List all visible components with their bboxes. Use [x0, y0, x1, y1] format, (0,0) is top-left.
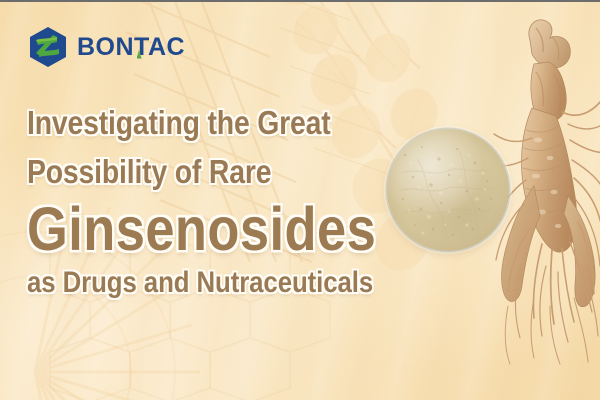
headline-keyword-ginsenosides: Ginsenosides [27, 199, 371, 260]
leaf-accent-icon [137, 50, 142, 59]
brand-logo[interactable]: BONTAC [28, 26, 185, 68]
headline-line-4: as Drugs and Nutraceuticals [27, 268, 371, 298]
headline-line-2: Possibility of Rare [27, 155, 371, 188]
bontac-hexagon-logo-icon [28, 26, 68, 68]
headline-line-1: Investigating the Great [27, 106, 371, 139]
brand-wordmark: BONTAC [77, 35, 185, 60]
ginsenosides-promo-banner: BONTAC Investigating the Great Possibili… [0, 0, 600, 400]
headline-block: Investigating the Great Possibility of R… [27, 106, 427, 298]
